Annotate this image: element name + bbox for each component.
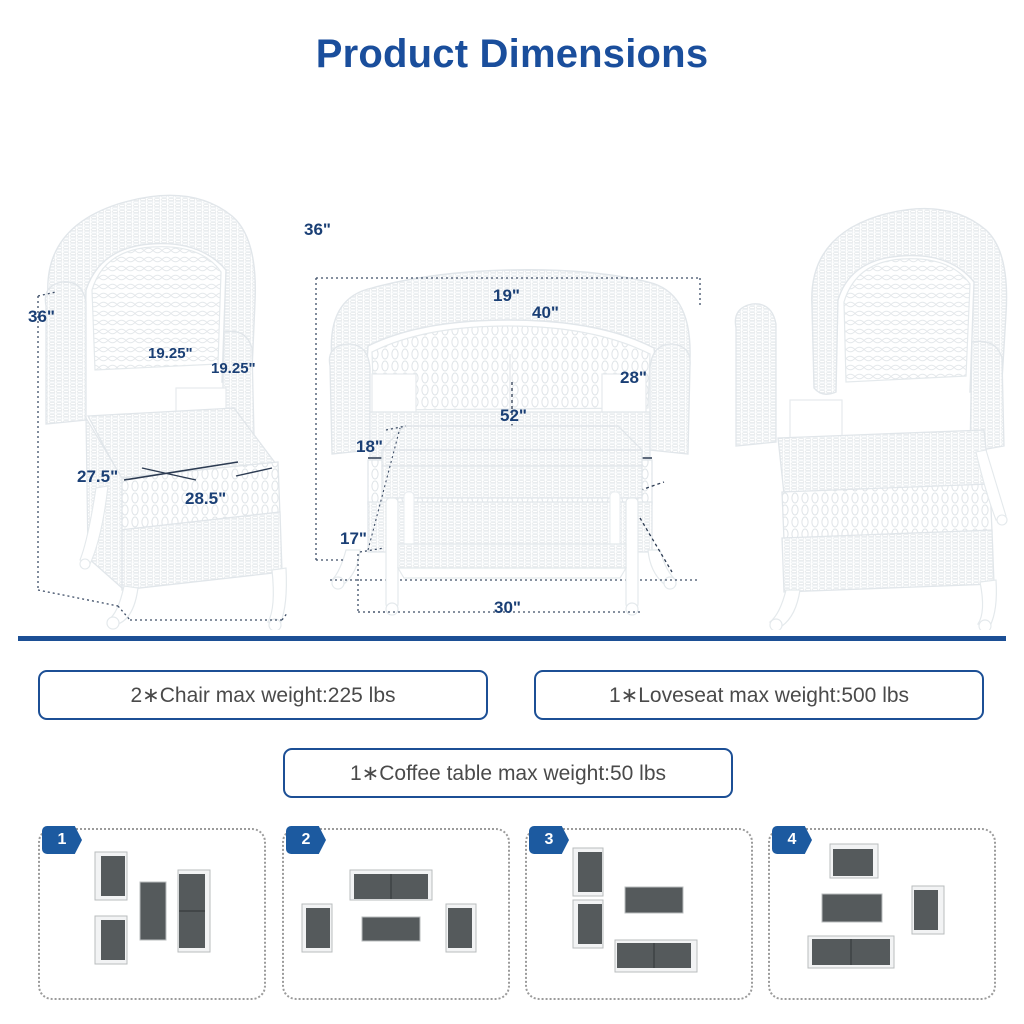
layout-diagram-1 bbox=[40, 830, 268, 1002]
section-divider bbox=[18, 636, 1006, 641]
furniture-illustration-stage: 36" 19.25" 19.25" 27.5" 28.5" 36" 19" 40… bbox=[0, 120, 1024, 630]
dimension-label-table-height: 17" bbox=[340, 529, 367, 549]
layout-panel-2: 2 bbox=[282, 828, 510, 1000]
dimension-label-chair-seat-width: 19.25" bbox=[148, 345, 193, 362]
dimension-label-chair-depth: 27.5" bbox=[77, 467, 118, 487]
layout-diagram-3 bbox=[527, 830, 755, 1002]
product-dimensions-infographic: Product Dimensions bbox=[0, 0, 1024, 1024]
weight-box-loveseat: 1∗Loveseat max weight:500 lbs bbox=[534, 670, 984, 720]
dimension-label-chair-seat-depth: 19.25" bbox=[211, 360, 256, 377]
furniture-drawings bbox=[0, 120, 1024, 630]
dimension-label-chair-width: 28.5" bbox=[185, 489, 226, 509]
chair-left-drawing bbox=[45, 195, 286, 630]
dimension-label-loveseat-width: 52" bbox=[500, 406, 527, 426]
page-title: Product Dimensions bbox=[0, 32, 1024, 77]
layout-panel-4: 4 bbox=[768, 828, 996, 1000]
dimension-label-loveseat-height: 36" bbox=[304, 220, 331, 240]
dimension-label-loveseat-depth: 28" bbox=[620, 368, 647, 388]
weight-box-coffee-table: 1∗Coffee table max weight:50 lbs bbox=[283, 748, 733, 798]
layout-panel-3: 3 bbox=[525, 828, 753, 1000]
dimension-label-table-width: 30" bbox=[494, 598, 521, 618]
layout-diagram-4 bbox=[770, 830, 998, 1002]
weight-box-chair: 2∗Chair max weight:225 lbs bbox=[38, 670, 488, 720]
dimension-label-loveseat-seat-width: 40" bbox=[532, 303, 559, 323]
dimension-label-chair-height: 36" bbox=[28, 307, 55, 327]
chair-right-drawing bbox=[735, 209, 1007, 630]
dimension-label-loveseat-seat-depth: 19" bbox=[493, 286, 520, 306]
layout-panel-1: 1 bbox=[38, 828, 266, 1000]
dimension-label-table-depth: 18" bbox=[356, 437, 383, 457]
layout-diagram-2 bbox=[284, 830, 512, 1002]
